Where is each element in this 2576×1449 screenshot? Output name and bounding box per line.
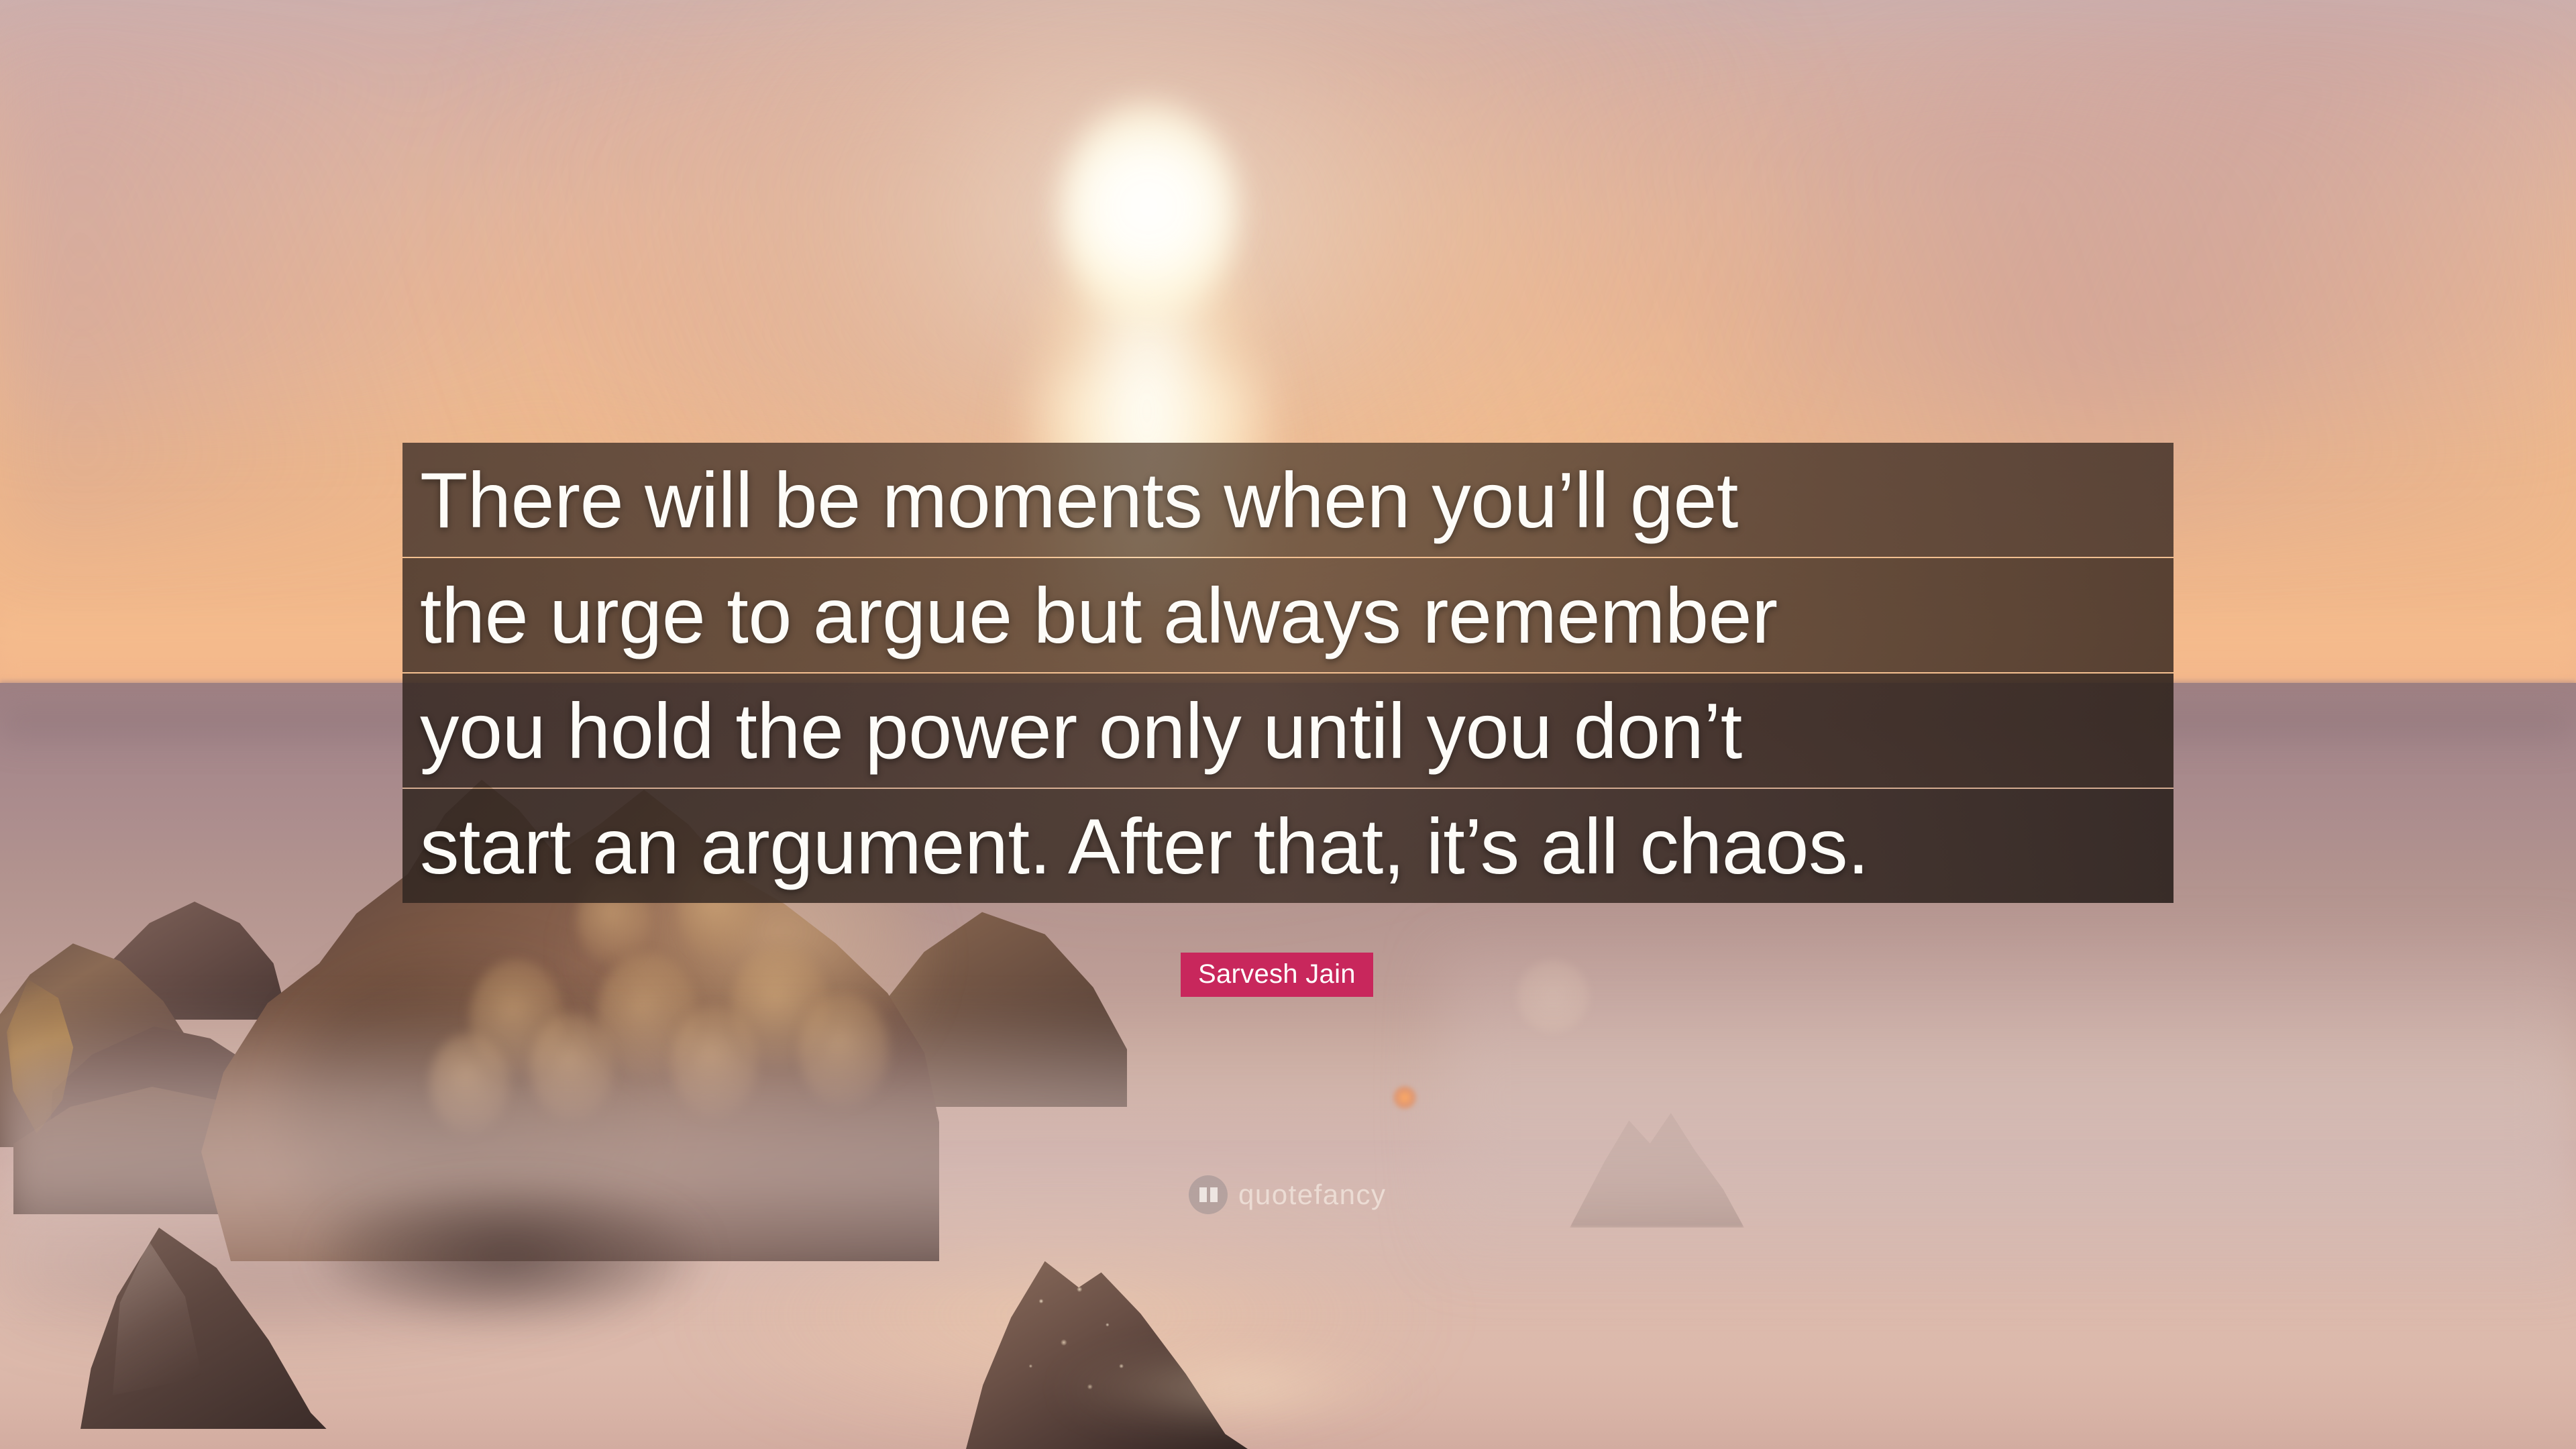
quote-band-separator: [402, 557, 2173, 558]
quote-line-2-text: the urge to argue but always remember: [420, 576, 1778, 655]
sun-core: [1058, 101, 1239, 322]
quote-line-1: There will be moments when you’ll get: [402, 443, 2173, 557]
quote-wallpaper: There will be moments when you’ll get th…: [0, 0, 2576, 1449]
sea-mist-right: [1442, 953, 2576, 1261]
foreground-dark-smudge: [322, 1187, 698, 1322]
quote-band-separator: [402, 672, 2173, 674]
quote-line-4-text: start an argument. After that, it’s all …: [420, 807, 1869, 885]
lens-bokeh: [1516, 959, 1590, 1033]
lens-flare-dot: [1393, 1085, 1417, 1110]
quotefancy-watermark: quotefancy: [1189, 1175, 1387, 1214]
quote-line-4: start an argument. After that, it’s all …: [402, 789, 2173, 903]
quote-line-3-text: you hold the power only until you don’t: [420, 692, 1742, 770]
author-name: Sarvesh Jain: [1198, 959, 1356, 989]
quote-text-block: There will be moments when you’ll get th…: [402, 443, 2173, 903]
quote-band-separator: [402, 788, 2173, 789]
author-badge: Sarvesh Jain: [1181, 953, 1373, 997]
quote-marks-icon: [1189, 1175, 1228, 1214]
quote-line-1-text: There will be moments when you’ll get: [420, 461, 1738, 539]
quote-mark-left: [1199, 1187, 1207, 1202]
quote-mark-right: [1210, 1187, 1218, 1202]
quote-marks-glyph: [1199, 1187, 1218, 1202]
watermark-brand-text: quotefancy: [1238, 1181, 1387, 1209]
quote-line-3: you hold the power only until you don’t: [402, 674, 2173, 788]
beach-water-ripple: [1006, 1328, 1476, 1449]
quote-line-2: the urge to argue but always remember: [402, 558, 2173, 672]
